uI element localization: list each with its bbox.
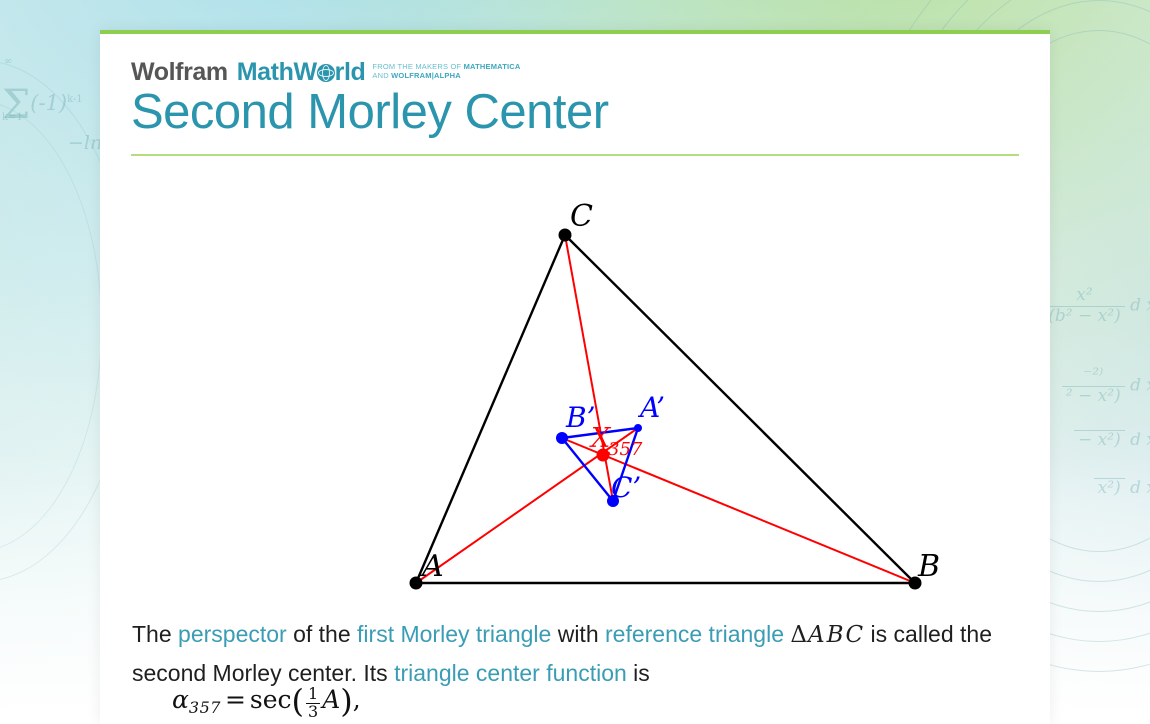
background-integral: − x²) d x: [1074, 430, 1150, 451]
tagline-wolfram-alpha: WOLFRAM|ALPHA: [391, 71, 461, 80]
formula-comma: ,: [353, 685, 361, 714]
formula-equals: =: [221, 685, 250, 714]
label-a-prime: A’: [637, 391, 665, 424]
formula-alpha-subscript: 357: [189, 698, 221, 717]
background-integral: x² (b² − x²) d x: [1044, 286, 1150, 326]
body-text-2: of the: [287, 621, 357, 647]
background-integral: x²) d x: [1094, 478, 1150, 499]
figure-container: A B C A’ B’ C’ X 357: [100, 164, 1050, 604]
label-a: A: [419, 549, 444, 584]
background-integral: ⁻²⁾ ² − x²) d x: [1062, 366, 1150, 406]
logo-tagline: FROM THE MAKERS OF MATHEMATICA AND WOLFR…: [372, 63, 520, 81]
formula-fraction: 13: [306, 686, 320, 721]
logo-mathworld-suffix: rld: [335, 60, 366, 85]
logo-mathworld-text: MathW rld: [237, 60, 366, 85]
formula-alpha: α: [172, 685, 189, 714]
summation-body: (-1): [30, 91, 67, 115]
background-ln-text: −ln: [68, 132, 102, 154]
integral-denominator: x²): [1094, 479, 1125, 499]
integral-differential: d x: [1130, 478, 1150, 498]
math-var-a: A: [807, 622, 826, 648]
body-text-1: The: [132, 621, 178, 647]
content-card: Wolfram MathW rld FROM THE MAKERS OF MAT…: [100, 30, 1050, 724]
vertex-point-a-prime: [634, 424, 642, 432]
background-summation-formula: Σ(-1)k-1 ∞ k=1: [2, 82, 83, 128]
label-b: B: [917, 549, 940, 584]
formula-argument: A: [322, 685, 340, 714]
tagline-line-1: FROM THE MAKERS OF MATHEMATICA: [372, 62, 520, 71]
label-c-prime: C’: [611, 471, 641, 504]
logo-wolfram-text: Wolfram: [131, 60, 228, 85]
integral-denominator: ² − x²): [1062, 387, 1125, 407]
formula-sec: sec: [250, 685, 292, 714]
integral-differential: d x: [1130, 376, 1150, 396]
triangle-side-bc: [565, 235, 915, 583]
link-triangle-center-function[interactable]: triangle center function: [394, 660, 627, 686]
page-title: Second Morley Center: [131, 86, 609, 140]
math-var-c: C: [845, 622, 865, 648]
globe-icon: [317, 64, 335, 82]
body-text-6: is: [627, 660, 650, 686]
summation-lower-limit: k=1: [2, 112, 23, 123]
link-perspector[interactable]: perspector: [178, 621, 287, 647]
link-reference-triangle[interactable]: reference triangle: [605, 621, 784, 647]
body-text-3: with: [551, 621, 605, 647]
math-var-b: B: [826, 622, 845, 648]
integral-denominator: − x²): [1074, 431, 1125, 451]
formula-denominator: 3: [306, 704, 320, 721]
formula-open-paren: (: [292, 682, 304, 720]
integral-denominator: (b² − x²): [1044, 307, 1124, 327]
vertex-point-a: [410, 577, 423, 590]
label-c: C: [570, 199, 593, 234]
summation-upper-limit: ∞: [4, 56, 12, 67]
formula-close-paren: ): [340, 682, 352, 720]
triangle-center-function-formula: α357=sec(13A),: [172, 682, 361, 721]
integral-numerator: x²: [1044, 286, 1124, 307]
tagline-text: FROM THE MAKERS OF: [372, 62, 463, 71]
second-morley-center-diagram: A B C A’ B’ C’ X 357: [100, 164, 1050, 604]
label-perspector-subscript: 357: [608, 439, 643, 460]
integral-differential: d x: [1130, 296, 1150, 316]
link-first-morley-triangle[interactable]: first Morley triangle: [357, 621, 551, 647]
body-paragraph: The perspector of the first Morley trian…: [132, 615, 1022, 692]
integral-numerator: ⁻²⁾: [1062, 366, 1125, 387]
tagline-line-2: AND WOLFRAM|ALPHA: [372, 71, 460, 80]
summation-exponent: k-1: [67, 94, 83, 105]
logo-mathworld-prefix: MathW: [237, 60, 317, 85]
delta-symbol: Δ: [790, 622, 807, 648]
tagline-text: AND: [372, 71, 391, 80]
site-logo[interactable]: Wolfram MathW rld FROM THE MAKERS OF MAT…: [131, 60, 521, 85]
title-divider: [131, 154, 1019, 156]
integral-differential: d x: [1130, 430, 1150, 450]
tagline-mathematica: MATHEMATICA: [464, 62, 521, 71]
